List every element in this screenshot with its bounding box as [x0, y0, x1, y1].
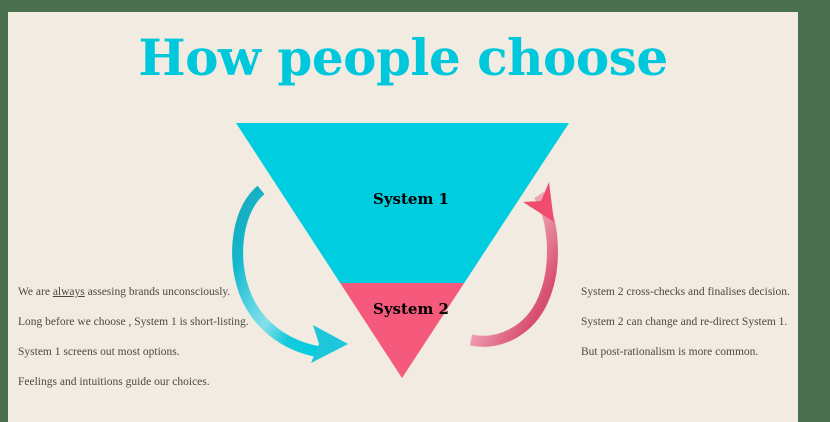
text-line: System 1 screens out most options. — [18, 346, 268, 359]
text-line: But post-rationalism is more common. — [581, 346, 798, 359]
left-text-block: We are always assesing brands unconsciou… — [18, 286, 268, 389]
text-line: Long before we choose , System 1 is shor… — [18, 316, 268, 329]
triangle-segment-system-1 — [228, 117, 578, 283]
slide-outer-frame: How people choose — [0, 0, 830, 422]
emphasis-underline: always — [53, 286, 85, 298]
text-line: System 2 cross-checks and finalises deci… — [581, 286, 798, 299]
text-line: Feelings and intuitions guide our choice… — [18, 376, 268, 389]
right-text-block: System 2 cross-checks and finalises deci… — [581, 286, 798, 359]
text-line: System 2 can change and re-direct System… — [581, 316, 798, 329]
slide-page: How people choose — [8, 12, 798, 422]
text-line: We are always assesing brands unconsciou… — [18, 286, 268, 299]
